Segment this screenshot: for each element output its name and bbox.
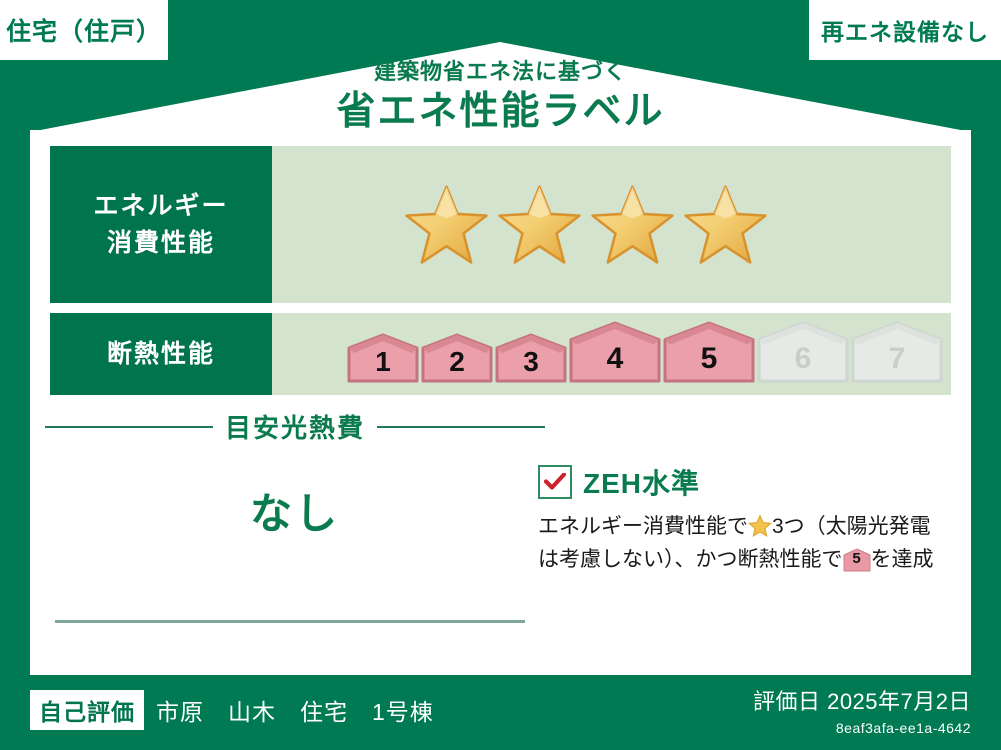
zeh-desc-part3: を達成	[871, 548, 934, 571]
insulation-level-1: 1	[347, 333, 419, 388]
footer-right-group: 評価日 2025年7月2日 8eaf3afa-ee1a-4642	[753, 684, 971, 736]
insulation-badge-inline: 5	[843, 548, 871, 572]
house-icon	[569, 321, 661, 383]
estimated-utility-cost-value: なし	[45, 480, 545, 541]
insulation-performance-value: 1234567	[272, 313, 951, 395]
energy-label-line2: 消費性能	[107, 225, 215, 261]
energy-consumption-row: エネルギー 消費性能	[50, 146, 951, 303]
house-icon	[421, 333, 493, 383]
house-icon	[851, 321, 943, 383]
energy-performance-label: 住宅（住戸） 再エネ設備なし 建築物省エネ法に基づく 省エネ性能ラベル エネルギ…	[0, 0, 1001, 750]
insulation-level-3: 3	[495, 333, 567, 388]
badge-building-type: 住宅（住戸）	[0, 0, 168, 60]
zeh-description: エネルギー消費性能で 3つ（太陽光発電は考慮しない）、かつ断熱性能で 5を達成	[538, 511, 958, 576]
label-id: 8eaf3afa-ee1a-4642	[753, 720, 971, 736]
star-icon	[590, 184, 675, 266]
energy-consumption-value	[272, 146, 951, 303]
label-subtitle: 建築物省エネ法に基づく	[0, 58, 1001, 86]
heading-rule-left	[45, 426, 213, 428]
check-icon	[544, 473, 566, 491]
house-icon	[495, 333, 567, 383]
zeh-desc-star-count: 3つ（太陽光発電	[772, 515, 931, 538]
insulation-badge-number: 5	[843, 547, 871, 570]
building-name: 市原 山木 住宅 1号棟	[156, 693, 434, 727]
star-rating	[272, 184, 768, 266]
page-title: 省エネ性能ラベル	[0, 88, 1001, 136]
cost-bottom-divider	[55, 620, 525, 623]
insulation-label-text: 断熱性能	[107, 336, 215, 372]
star-icon	[683, 184, 768, 266]
zeh-desc-part2: は考慮しない）、かつ断熱性能で	[538, 548, 843, 571]
insulation-level-6: 6	[757, 321, 849, 388]
insulation-level-4: 4	[569, 321, 661, 388]
energy-label-line1: エネルギー	[93, 188, 228, 224]
zeh-desc-part1: エネルギー消費性能で	[538, 515, 748, 538]
insulation-level-scale: 1234567	[272, 321, 943, 388]
star-icon	[404, 184, 489, 266]
footer-left-group: 自己評価 市原 山木 住宅 1号棟	[30, 690, 434, 730]
insulation-level-7: 7	[851, 321, 943, 388]
house-icon	[347, 333, 419, 383]
label-title-block: 建築物省エネ法に基づく 省エネ性能ラベル	[0, 58, 1001, 135]
zeh-checkbox[interactable]	[538, 465, 572, 499]
badge-renewable-energy: 再エネ設備なし	[809, 0, 1001, 60]
insulation-level-5: 5	[663, 321, 755, 388]
house-icon	[663, 321, 755, 383]
label-footer: 自己評価 市原 山木 住宅 1号棟 評価日 2025年7月2日 8eaf3afa…	[0, 675, 1001, 750]
energy-consumption-label: エネルギー 消費性能	[50, 146, 272, 303]
insulation-level-2: 2	[421, 333, 493, 388]
evaluation-type-badge: 自己評価	[30, 690, 144, 730]
zeh-title: ZEH水準	[583, 462, 700, 502]
estimated-utility-cost-heading: 目安光熱費	[45, 408, 545, 445]
house-icon	[757, 321, 849, 383]
star-icon-inline	[748, 514, 772, 538]
evaluation-date: 評価日 2025年7月2日	[753, 684, 971, 716]
insulation-performance-row: 断熱性能 1234567	[50, 313, 951, 395]
heading-rule-right	[377, 426, 545, 428]
insulation-performance-label: 断熱性能	[50, 313, 272, 395]
zeh-standard-block: ZEH水準 エネルギー消費性能で 3つ（太陽光発電は考慮しない）、かつ断熱性能で…	[538, 462, 958, 576]
zeh-heading-row: ZEH水準	[538, 462, 958, 502]
star-icon	[497, 184, 582, 266]
estimated-utility-cost-title: 目安光熱費	[225, 408, 365, 445]
